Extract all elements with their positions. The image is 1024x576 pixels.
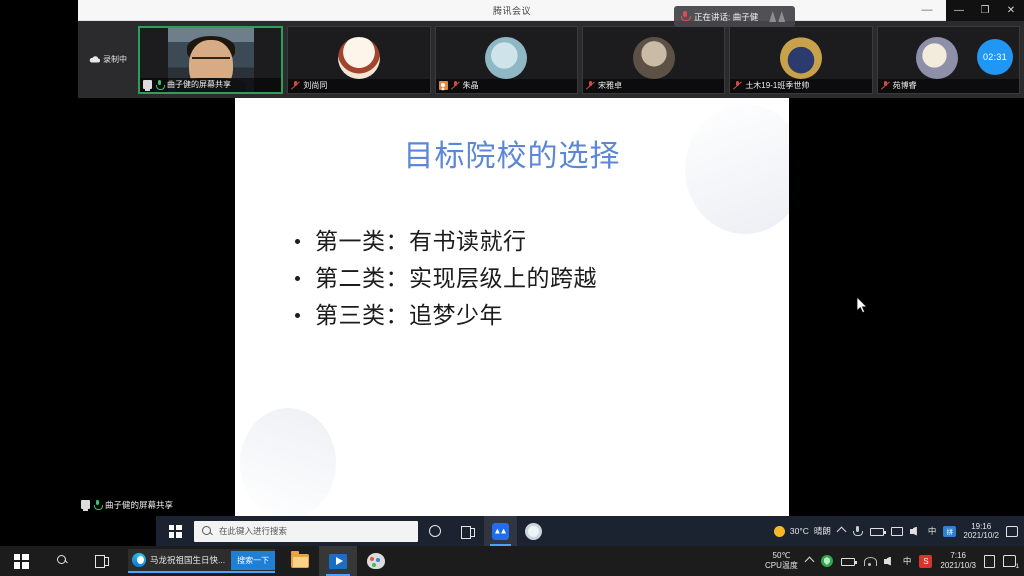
mic-off-icon — [291, 81, 300, 90]
desktop: 腾讯会议 — — ❐ ✕ 录制中 — [0, 0, 1024, 576]
sticky-note-icon[interactable] — [984, 555, 995, 568]
recording-label: 录制中 — [103, 54, 127, 65]
meeting-minimize-button[interactable]: — — [912, 0, 942, 21]
maximize-button[interactable]: ❐ — [973, 0, 997, 21]
inner-clock[interactable]: 19:16 2021/10/2 — [963, 522, 999, 540]
clock-date: 2021/10/3 — [940, 561, 976, 571]
windows-taskbar: 马龙祝祖国生日快... 搜索一下 50℃ CPU温度 中 S 7:16 2021… — [0, 546, 1024, 576]
avatar-glasses — [192, 57, 230, 65]
security-shield-icon[interactable] — [821, 555, 833, 567]
participant-name-2: 朱晶 — [463, 80, 479, 91]
participant-name-5: 苑博睿 — [893, 80, 917, 91]
cpu-temperature-widget[interactable]: 50℃ CPU温度 — [765, 551, 798, 570]
recording-indicator: 录制中 — [82, 21, 134, 98]
slide-bullet-2: 第三类：追梦少年 — [293, 297, 789, 334]
notification-center-icon[interactable] — [1006, 526, 1018, 537]
slide-bullet-1: 第二类：实现层级上的跨越 — [293, 260, 789, 297]
inner-clock-time: 19:16 — [963, 522, 999, 531]
inner-clock-date: 2021/10/2 — [963, 531, 999, 540]
ime-mode-label[interactable]: 中 — [903, 555, 912, 567]
inner-start-button[interactable] — [156, 516, 194, 546]
windows-logo-icon — [169, 525, 182, 538]
clock-time: 7:16 — [940, 551, 976, 561]
outer-window-controls: — ❐ ✕ — [946, 0, 1024, 21]
close-button[interactable]: ✕ — [999, 0, 1023, 21]
cpu-temperature-value: 50℃ — [765, 551, 798, 561]
system-tray: 50℃ CPU温度 中 S 7:16 2021/10/3 1 — [765, 551, 1024, 570]
ime-badge-icon[interactable]: 拼 — [943, 526, 956, 537]
inner-search-box[interactable]: 在此键入进行搜索 — [194, 521, 418, 542]
battery-icon[interactable] — [841, 558, 855, 566]
file-explorer-icon[interactable] — [281, 546, 319, 576]
volume-icon[interactable] — [910, 527, 921, 536]
host-icon — [439, 81, 448, 90]
taskbar-search-button[interactable] — [42, 546, 82, 576]
participant-name-3: 宋雅卓 — [598, 80, 622, 91]
chevron-up-icon[interactable] — [836, 526, 846, 536]
edge-icon — [132, 553, 146, 567]
task-view-button[interactable] — [82, 546, 122, 576]
mic-off-icon — [586, 81, 595, 90]
inner-search-placeholder: 在此键入进行搜索 — [219, 525, 287, 537]
slide-decoration-bottom-left — [240, 408, 336, 516]
app-taskbar-icon[interactable] — [517, 516, 550, 546]
weather-condition: 晴朗 — [814, 525, 831, 537]
window-title-bar: 腾讯会议 — — [78, 0, 946, 21]
task-view-icon[interactable] — [451, 516, 484, 546]
chevron-up-icon[interactable] — [804, 556, 814, 566]
minimize-button[interactable]: — — [947, 0, 971, 21]
participant-namebar-4: 土木19-1班季世帅 — [730, 79, 871, 93]
screen-share-icon — [143, 80, 152, 89]
sogou-ime-icon[interactable]: S — [919, 555, 932, 568]
mic-off-icon — [881, 81, 890, 90]
tencent-meeting-window: 腾讯会议 — — ❐ ✕ 录制中 — [78, 0, 1024, 546]
mic-off-icon — [733, 81, 742, 90]
cortana-icon[interactable] — [418, 516, 451, 546]
notification-count: 1 — [1016, 564, 1019, 570]
start-button[interactable] — [0, 546, 42, 576]
shared-screen-area: 目标院校的选择 第一类：有书读就行 第二类：实现层级上的跨越 第三类：追梦少年 … — [78, 98, 1024, 546]
taskbar-clock[interactable]: 7:16 2021/10/3 — [940, 551, 976, 570]
wifi-icon[interactable] — [863, 557, 876, 566]
share-banner-label: 曲子健的屏幕共享 — [105, 499, 173, 511]
weather-temperature: 30°C — [790, 526, 809, 536]
screen-share-banner: 曲子健的屏幕共享 — [78, 497, 179, 512]
edge-task-title: 马龙祝祖国生日快... — [150, 554, 225, 566]
tencent-meeting-taskbar-icon[interactable] — [484, 516, 517, 546]
weather-widget[interactable]: 30°C 晴朗 — [774, 525, 831, 537]
avatar — [633, 37, 675, 79]
speaking-tooltip: 正在讲话: 曲子健 — [674, 6, 795, 27]
slide-bullet-list: 第一类：有书读就行 第二类：实现层级上的跨越 第三类：追梦少年 — [293, 223, 789, 333]
mic-off-icon — [451, 81, 460, 90]
participant-tile-3[interactable]: 宋雅卓 — [582, 26, 725, 94]
cpu-temperature-label: CPU温度 — [765, 561, 798, 571]
notification-center-icon[interactable]: 1 — [1003, 555, 1016, 567]
screen-share-icon — [81, 500, 90, 509]
sun-icon — [774, 526, 785, 537]
participant-namebar-5: 苑博睿 — [878, 79, 1019, 93]
mic-on-icon — [93, 500, 102, 509]
participants-filmstrip: 录制中 曲子健的屏幕共享 — [78, 21, 1024, 98]
window-title: 腾讯会议 — [493, 4, 531, 17]
cloud-icon — [89, 56, 100, 63]
avatar — [780, 37, 822, 79]
ime-mode-label[interactable]: 中 — [928, 525, 937, 537]
participant-namebar-3: 宋雅卓 — [583, 79, 724, 93]
paint-icon[interactable] — [357, 546, 395, 576]
avatar — [485, 37, 527, 79]
avatar — [338, 37, 380, 79]
participant-name-1: 刘尚同 — [303, 80, 327, 91]
participant-namebar-1: 刘尚同 — [288, 79, 429, 93]
participant-namebar-2: 朱晶 — [436, 79, 577, 93]
microphone-icon[interactable] — [852, 526, 863, 537]
inner-system-tray: 30°C 晴朗 中 拼 19:16 2021/10/2 — [774, 522, 1024, 540]
participant-tile-5[interactable]: 02:31 苑博睿 — [877, 26, 1020, 94]
media-player-icon[interactable] — [319, 546, 357, 576]
participant-tile-4[interactable]: 土木19-1班季世帅 — [729, 26, 872, 94]
shared-windows-taskbar: 在此键入进行搜索 30°C 晴朗 中 拼 19:16 — [156, 516, 1024, 546]
participant-name-4: 土木19-1班季世帅 — [745, 80, 809, 91]
speaking-tooltip-label: 正在讲话: 曲子健 — [694, 11, 758, 23]
edge-search-chip[interactable]: 搜索一下 — [231, 551, 275, 570]
search-icon — [202, 526, 212, 536]
display-icon[interactable] — [891, 527, 903, 536]
presentation-slide: 目标院校的选择 第一类：有书读就行 第二类：实现层级上的跨越 第三类：追梦少年 — [235, 98, 789, 516]
speaking-timer-badge: 02:31 — [977, 39, 1013, 75]
taskbar-item-edge[interactable]: 马龙祝祖国生日快... 搜索一下 — [128, 549, 275, 573]
volume-icon[interactable] — [884, 557, 895, 566]
mic-on-icon — [155, 80, 164, 89]
participant-tile-2[interactable]: 朱晶 — [435, 26, 578, 94]
windows-logo-icon — [14, 554, 29, 569]
mic-speaking-icon — [680, 11, 689, 22]
participant-name-0: 曲子健的屏幕共享 — [167, 79, 231, 90]
audio-wave-icon — [769, 11, 785, 22]
participant-namebar-0: 曲子健的屏幕共享 — [140, 78, 281, 92]
battery-icon[interactable] — [870, 528, 884, 536]
participant-tile-1[interactable]: 刘尚同 — [287, 26, 430, 94]
avatar — [916, 37, 958, 79]
slide-bullet-0: 第一类：有书读就行 — [293, 223, 789, 260]
participant-tile-0[interactable]: 曲子健的屏幕共享 — [138, 26, 283, 94]
slide-title: 目标院校的选择 — [235, 131, 789, 175]
